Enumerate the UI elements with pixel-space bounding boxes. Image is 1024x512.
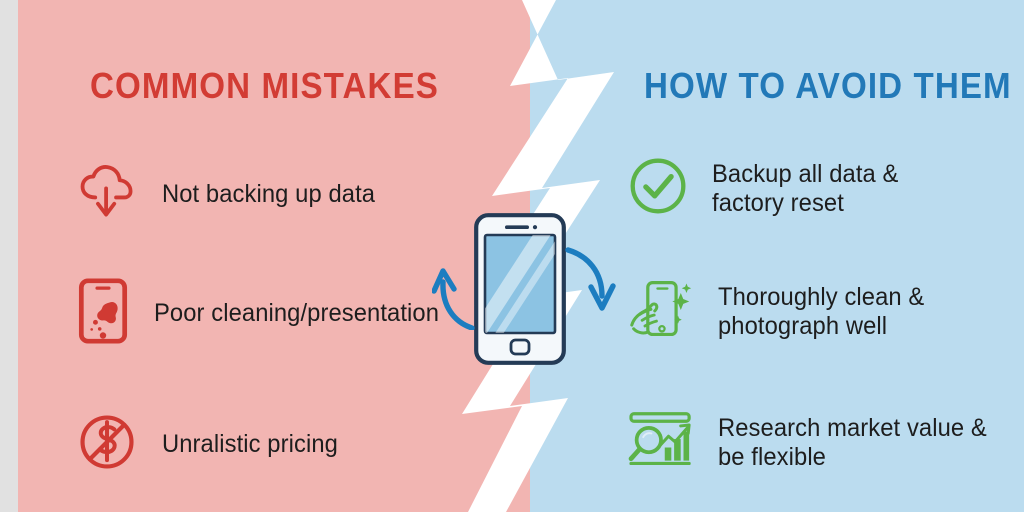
list-item: Not backing up data [78, 163, 386, 226]
page-title-left: COMMON MISTAKES [90, 68, 439, 104]
list-item-label: Thoroughly clean & photograph well [718, 283, 924, 341]
list-item: Backup all data & factory reset [628, 156, 908, 221]
infographic-canvas: COMMON MISTAKES HOW TO AVOID THEM Not ba… [0, 0, 1024, 512]
list-item: Research market value & be flexible [628, 410, 1001, 475]
page-title-right: HOW TO AVOID THEM [644, 68, 1012, 104]
list-item: Poor cleaning/presentation [78, 278, 454, 349]
list-item-label: Poor cleaning/presentation [154, 299, 439, 328]
list-item: Thoroughly clean & photograph well [628, 276, 935, 347]
list-item-label: Research market value & be flexible [718, 414, 987, 472]
list-item: Unralistic pricing [78, 413, 347, 476]
no-dollar-icon [78, 413, 136, 476]
list-item-label: Backup all data & factory reset [712, 160, 898, 218]
list-item-label: Not backing up data [162, 180, 375, 209]
dirty-phone-icon [78, 278, 128, 349]
curved-arrow-up-icon [432, 262, 478, 330]
magnifier-chart-icon [628, 410, 694, 475]
smartphone-illustration-icon [474, 213, 566, 365]
curved-arrow-down-icon [564, 246, 616, 318]
check-circle-icon [628, 156, 688, 221]
hand-cleaning-phone-icon [628, 276, 694, 347]
cloud-download-icon [78, 163, 136, 226]
list-item-label: Unralistic pricing [162, 430, 338, 459]
